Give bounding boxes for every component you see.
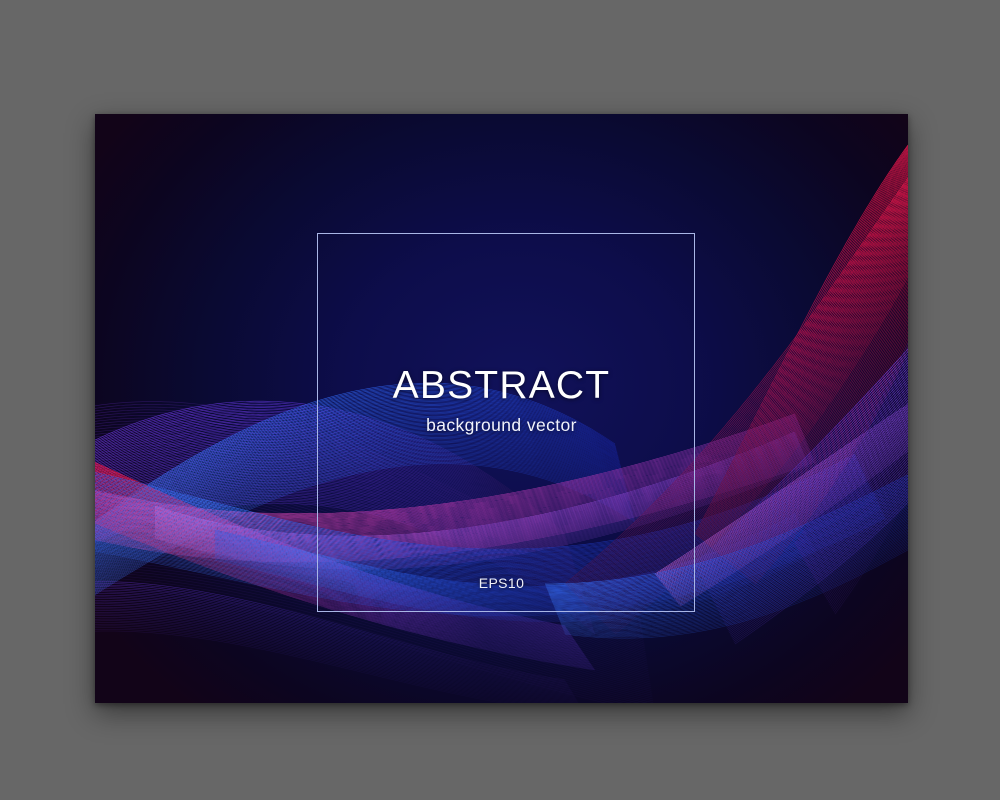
stage: ABSTRACT background vector EPS10	[0, 0, 1000, 800]
poster-canvas: ABSTRACT background vector EPS10	[95, 114, 908, 703]
abstract-wave-artwork	[95, 114, 908, 703]
